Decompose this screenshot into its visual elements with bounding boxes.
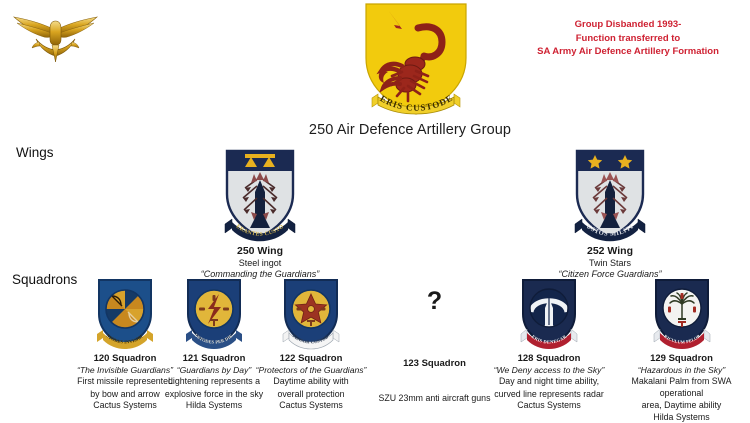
disbanded-note-line2: Function transferred to xyxy=(508,32,748,46)
252-wing-symbol: Twin Stars xyxy=(535,258,685,268)
129-squadron-desc-line2: area, Daytime ability xyxy=(613,400,750,412)
wing-node-250[interactable]: IMPERANTES CUSTODES 250 Wing Steel ingot… xyxy=(185,148,335,279)
122-squadron-name: 122 Squadron xyxy=(252,353,370,364)
129-squadron-motto: “Hazardous in the Sky” xyxy=(613,365,750,375)
252-wing-badge-icon: CUSTOS MILITIA xyxy=(535,148,685,243)
128-squadron-badge-icon: AERIS DENEGARE xyxy=(490,278,608,350)
128-squadron-system: Cactus Systems xyxy=(490,400,608,412)
question-mark-icon: ? xyxy=(372,288,497,314)
129-squadron-badge-icon: PERICULUM PELORIA xyxy=(613,278,750,350)
scorpion-shield-crest-icon: AERIS CUSTODES xyxy=(358,2,474,120)
disbanded-note-line1: Group Disbanded 1993- xyxy=(508,18,748,32)
squadron-node-122[interactable]: DEFENSOR CUSTODUM 122 Squadron “Protecto… xyxy=(252,278,370,412)
row-label-wings: Wings xyxy=(16,145,54,160)
squadron-node-123[interactable]: ? 123 Squadron SZU 23mm anti aircraft gu… xyxy=(372,288,497,405)
128-squadron-desc-line1: Day and night time ability, xyxy=(490,376,608,388)
saaf-eagle-icon xyxy=(8,12,103,67)
squadron-node-129[interactable]: PERICULUM PELORIA 129 Squadron “Hazardou… xyxy=(613,278,750,423)
122-squadron-desc-line2: overall protection xyxy=(252,389,370,401)
123-squadron-name: 123 Squadron xyxy=(372,358,497,369)
129-squadron-desc-line1: Makalani Palm from SWA operational xyxy=(613,376,750,399)
128-squadron-name: 128 Squadron xyxy=(490,353,608,364)
page-title: 250 Air Defence Artillery Group xyxy=(250,122,570,138)
123-squadron-system: SZU 23mm anti aircraft guns xyxy=(372,393,497,405)
252-wing-name: 252 Wing xyxy=(535,245,685,257)
129-squadron-name: 129 Squadron xyxy=(613,353,750,364)
122-squadron-badge-icon: DEFENSOR CUSTODUM xyxy=(252,278,370,350)
disbanded-note-line3: SA Army Air Defence Artillery Formation xyxy=(508,45,748,59)
wing-node-252[interactable]: CUSTOS MILITIA 252 Wing Twin Stars “Citi… xyxy=(535,148,685,279)
128-squadron-desc-line2: curved line represents radar xyxy=(490,389,608,401)
disbanded-note: Group Disbanded 1993- Function transferr… xyxy=(508,18,748,59)
129-squadron-system: Hilda Systems xyxy=(613,412,750,423)
122-squadron-desc-line1: Daytime ability with xyxy=(252,376,370,388)
122-squadron-system: Cactus Systems xyxy=(252,400,370,412)
250-wing-symbol: Steel ingot xyxy=(185,258,335,268)
250-wing-badge-icon: IMPERANTES CUSTODES xyxy=(185,148,335,243)
250-wing-name: 250 Wing xyxy=(185,245,335,257)
squadron-node-128[interactable]: AERIS DENEGARE 128 Squadron “We Deny acc… xyxy=(490,278,608,412)
128-squadron-motto: “We Deny access to the Sky” xyxy=(490,365,608,375)
122-squadron-motto: “Protectors of the Guardians” xyxy=(252,365,370,375)
